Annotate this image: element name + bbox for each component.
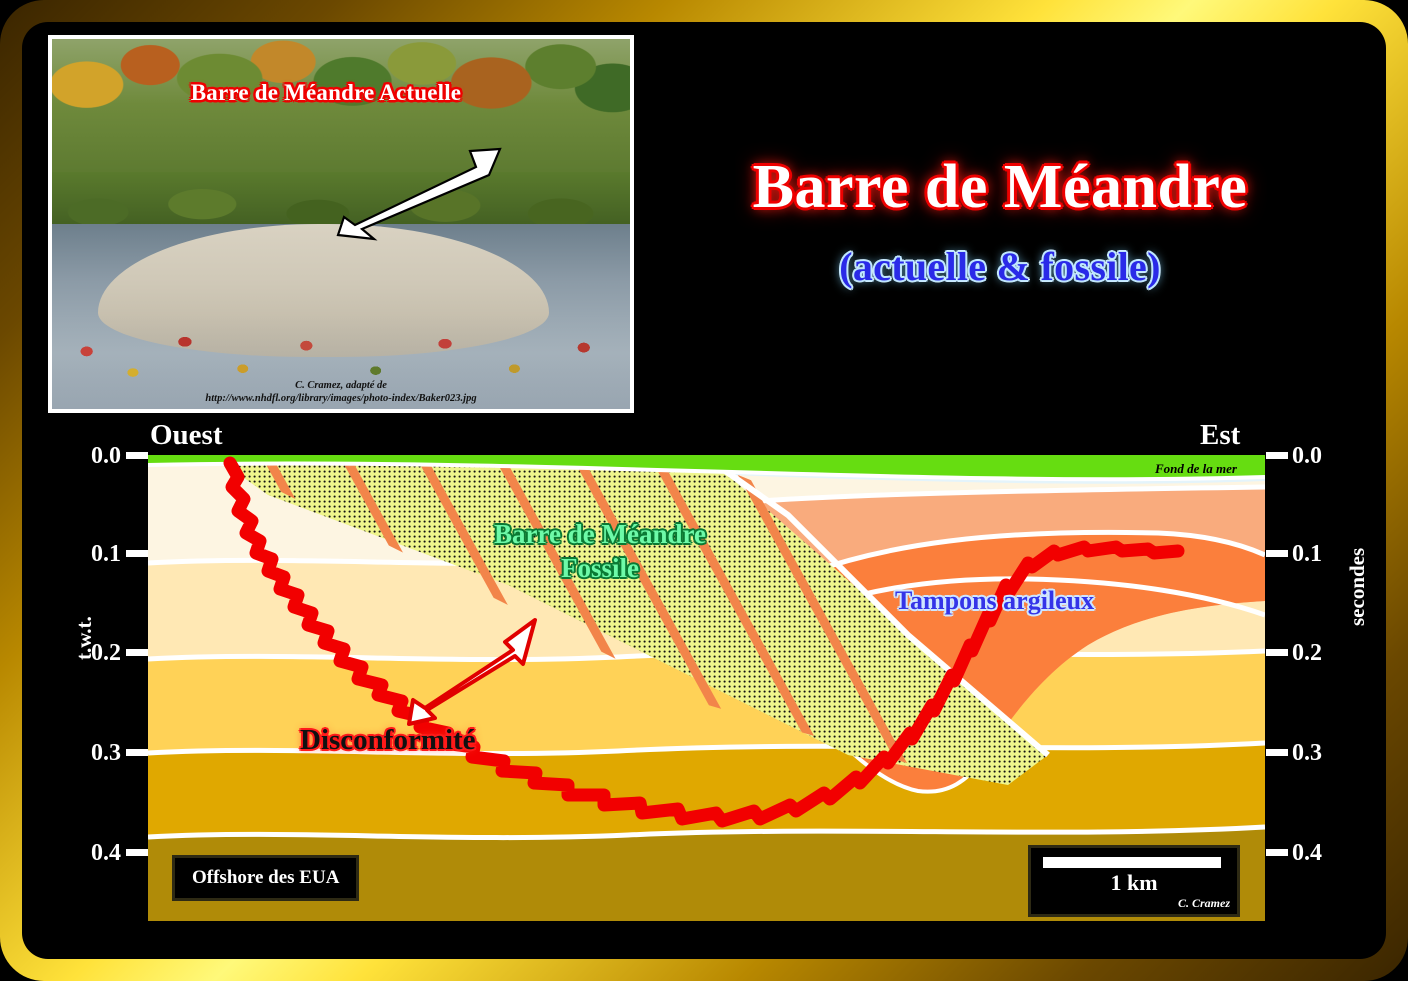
left-tick-label-3: 0.3	[91, 740, 121, 767]
right-tick-label-2: 0.2	[1292, 640, 1322, 667]
left-tick-mark-0	[126, 452, 148, 459]
scale-bar-label: 1 km	[1031, 870, 1237, 896]
left-tick-label-4: 0.4	[91, 840, 121, 867]
left-tick-mark-2	[126, 649, 148, 656]
right-tick-label-3: 0.3	[1292, 740, 1322, 767]
photo-panel: Barre de Méandre Actuelle C. Cramez, ada…	[48, 35, 634, 413]
photo-annotation-label: Barre de Méandre Actuelle	[191, 80, 462, 106]
right-tick-label-1: 0.1	[1292, 541, 1322, 568]
label-clay-plugs: Tampons argileux	[895, 586, 1094, 616]
right-tick-mark-2	[1266, 649, 1288, 656]
label-point-bar-line1: Barre de Méandre	[470, 518, 730, 552]
left-tick-mark-1	[126, 550, 148, 557]
scale-bar-box: 1 km C. Cramez	[1028, 845, 1240, 917]
label-fossil-point-bar: Barre de Méandre Fossile	[470, 518, 730, 586]
right-tick-mark-1	[1266, 550, 1288, 557]
author-credit: C. Cramez	[1178, 896, 1230, 911]
location-box: Offshore des EUA	[172, 855, 359, 901]
right-tick-mark-0	[1266, 452, 1288, 459]
right-tick-mark-3	[1266, 749, 1288, 756]
left-tick-mark-4	[126, 849, 148, 856]
scale-bar-rule	[1043, 857, 1221, 868]
page-title: Barre de Méandre	[680, 152, 1320, 223]
left-tick-label-2: 0.2	[91, 640, 121, 667]
left-tick-label-1: 0.1	[91, 541, 121, 568]
orientation-west: Ouest	[150, 419, 223, 452]
left-tick-label-0: 0.0	[91, 443, 121, 470]
left-tick-mark-3	[126, 749, 148, 756]
label-point-bar-line2: Fossile	[470, 552, 730, 586]
right-tick-mark-4	[1266, 849, 1288, 856]
page-subtitle: (actuelle & fossile)	[680, 243, 1320, 290]
layer-gold	[148, 743, 1265, 838]
photo-credit-line2: http://www.nhdfl.org/library/images/phot…	[52, 392, 630, 405]
label-seafloor: Fond de la mer	[1155, 461, 1237, 477]
river-photograph: Barre de Méandre Actuelle C. Cramez, ada…	[52, 39, 630, 409]
unconformity-arrow	[395, 612, 565, 737]
right-axis-title: secondes	[1345, 548, 1370, 626]
right-tick-label-0: 0.0	[1292, 443, 1322, 470]
photo-credit: C. Cramez, adapté de http://www.nhdfl.or…	[52, 379, 630, 405]
photo-credit-line1: C. Cramez, adapté de	[52, 379, 630, 392]
orientation-east: Est	[1200, 419, 1240, 452]
right-tick-label-4: 0.4	[1292, 840, 1322, 867]
